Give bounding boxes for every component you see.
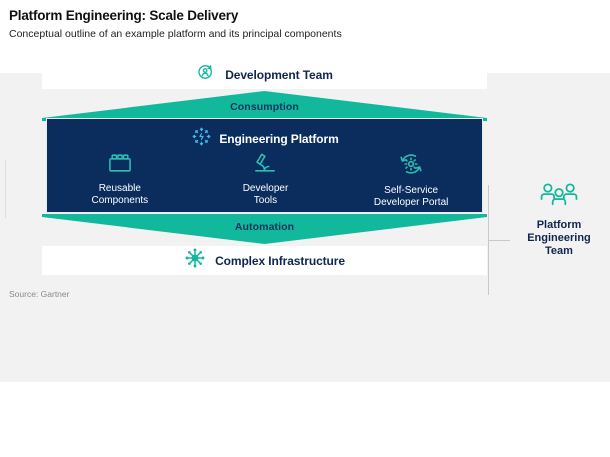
engineering-platform-box: Engineering Platform Reusable Components	[46, 118, 483, 213]
complex-infrastructure-label: Complex Infrastructure	[215, 254, 345, 268]
component-label: Reusable Components	[91, 183, 148, 207]
platform-engineering-team-annotation: Platform Engineering Team	[515, 182, 603, 258]
automation-label: Automation	[42, 221, 487, 233]
component-reusable-components: Reusable Components	[52, 152, 187, 207]
automation-band: Automation	[42, 214, 487, 244]
platform-engineering-team-label: Platform Engineering Team	[527, 219, 591, 258]
component-label: Developer Tools	[243, 183, 289, 207]
engineering-platform-title: Engineering Platform	[219, 132, 338, 146]
screwdriver-tool-icon	[252, 152, 278, 179]
network-hub-icon	[184, 247, 206, 274]
bracket-horizontal-tick	[488, 240, 510, 241]
platform-components: Reusable Components Developer Tools	[47, 152, 484, 209]
development-team-row: Development Team	[42, 60, 487, 89]
page-subtitle: Conceptual outline of an example platfor…	[9, 27, 569, 41]
screenshot-canvas: Platform Engineering: Scale Delivery Con…	[0, 0, 610, 457]
consumption-label: Consumption	[42, 101, 487, 113]
component-self-service-developer-portal: Self-Service Developer Portal	[344, 152, 479, 209]
people-group-icon	[538, 182, 580, 213]
right-bracket	[488, 185, 510, 295]
source-attribution: Source: Gartner	[9, 289, 69, 299]
gear-refresh-icon	[398, 152, 424, 181]
consumption-band: Consumption	[42, 91, 487, 121]
page-title: Platform Engineering: Scale Delivery	[9, 8, 569, 24]
platform-diagram: Development Team Consumption	[42, 60, 487, 275]
component-label: Self-Service Developer Portal	[374, 185, 448, 209]
header: Platform Engineering: Scale Delivery Con…	[9, 8, 569, 41]
lego-brick-icon	[107, 152, 133, 179]
component-developer-tools: Developer Tools	[198, 152, 333, 207]
network-nodes-icon	[192, 127, 211, 151]
left-bracket-line	[5, 160, 6, 218]
development-team-label: Development Team	[225, 68, 333, 82]
user-refresh-circle-icon	[196, 62, 216, 87]
complex-infrastructure-row: Complex Infrastructure	[42, 246, 487, 275]
engineering-platform-heading: Engineering Platform	[47, 127, 484, 151]
